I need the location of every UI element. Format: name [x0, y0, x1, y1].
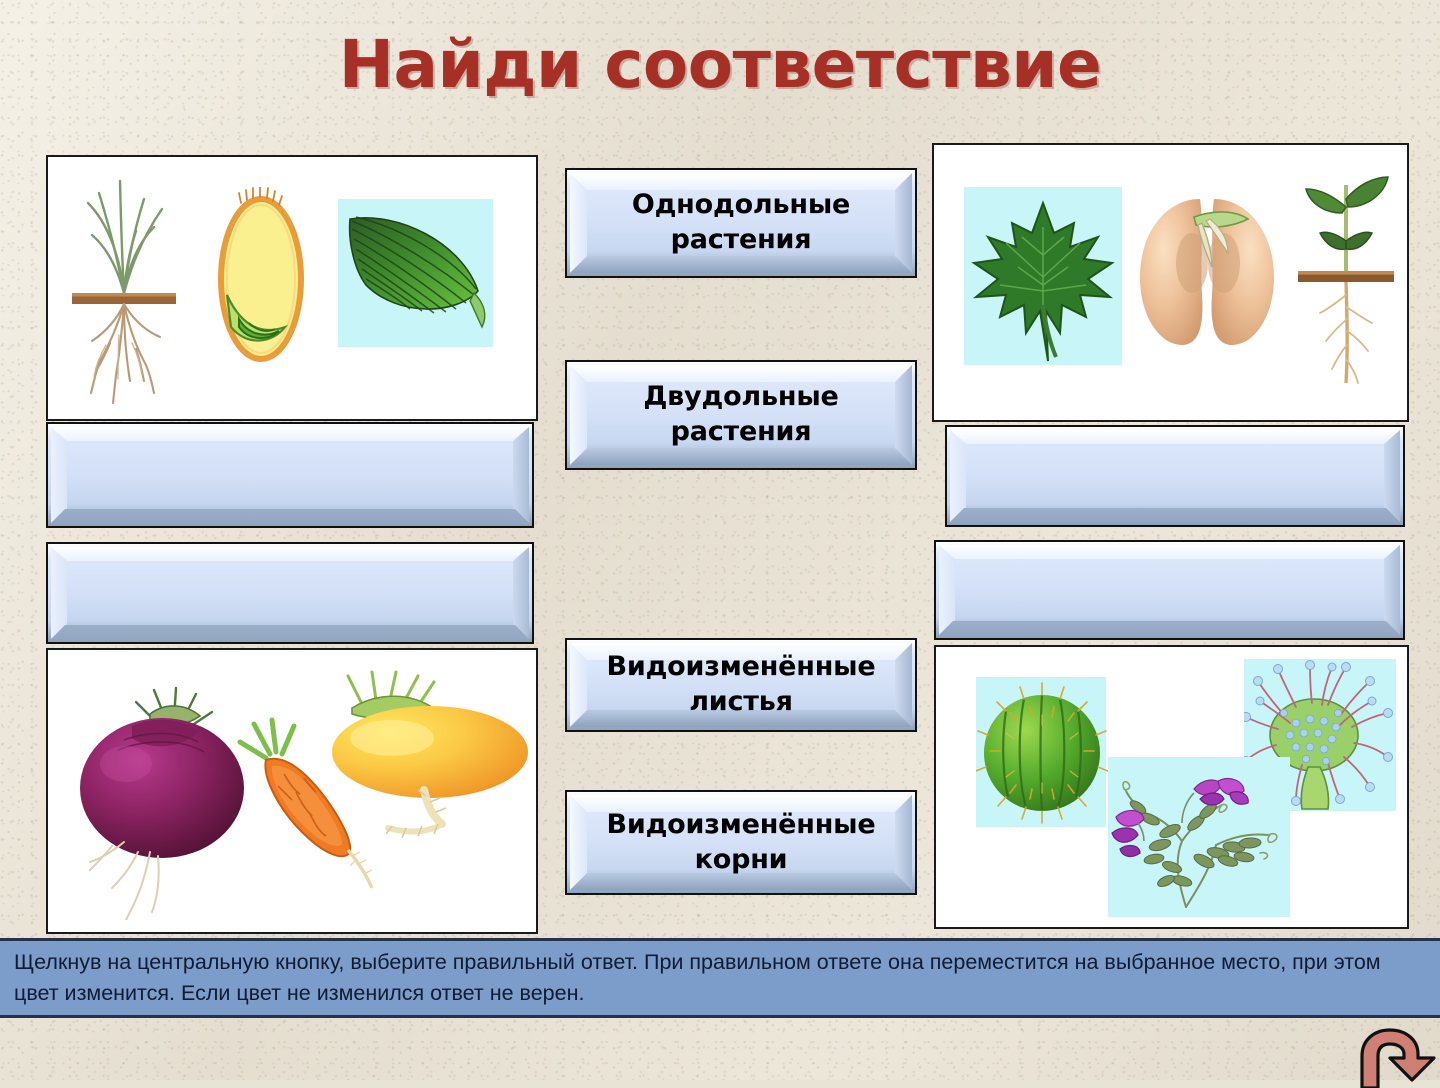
choice-button-dicots[interactable]: Двудольные растения	[565, 360, 917, 470]
choice-label-line1: Видоизменённые	[606, 651, 875, 682]
choice-button-modified-roots[interactable]: Видоизменённые корни	[565, 790, 917, 895]
page-title: Найди соответствие	[0, 26, 1440, 103]
dropzone-top-right[interactable]	[945, 425, 1405, 527]
panel-top-left	[46, 155, 538, 421]
instruction-text: Щелкнув на центральную кнопку, выберите …	[0, 947, 1440, 1009]
maple-leaf-icon	[962, 185, 1124, 367]
choice-label-line2: листья	[689, 686, 793, 717]
choice-label-line2: корни	[695, 844, 788, 875]
panel-top-right	[932, 143, 1409, 422]
return-arrow-icon[interactable]	[1352, 1026, 1440, 1088]
choice-button-modified-leaves[interactable]: Видоизменённые листья	[565, 638, 917, 732]
choice-label-line2: растения	[671, 416, 812, 447]
choice-button-monocots[interactable]: Однодольные растения	[565, 168, 917, 278]
panel-bottom-right	[934, 645, 1409, 929]
turnip-icon	[326, 668, 536, 858]
taproot-seedling-icon	[1292, 155, 1400, 405]
choice-label-line2: растения	[671, 224, 812, 255]
monocot-seed-icon	[213, 187, 309, 367]
bean-seed-icon	[1132, 183, 1282, 373]
choice-label-line1: Видоизменённые	[606, 809, 875, 840]
vetch-icon	[1108, 757, 1292, 919]
beet-icon	[70, 680, 250, 920]
dropzone-top-left[interactable]	[46, 422, 534, 528]
panel-bottom-left	[46, 648, 538, 934]
choice-label-line1: Двудольные	[643, 381, 838, 412]
dropzone-bottom-left[interactable]	[46, 542, 534, 644]
instruction-bar: Щелкнув на центральную кнопку, выберите …	[0, 938, 1440, 1018]
choice-label-line1: Однодольные	[632, 189, 850, 220]
parallel-veined-leaf-icon	[338, 199, 498, 349]
fibrous-root-grass-icon	[66, 165, 184, 413]
cactus-icon	[976, 677, 1108, 829]
dropzone-bottom-right[interactable]	[934, 540, 1405, 640]
